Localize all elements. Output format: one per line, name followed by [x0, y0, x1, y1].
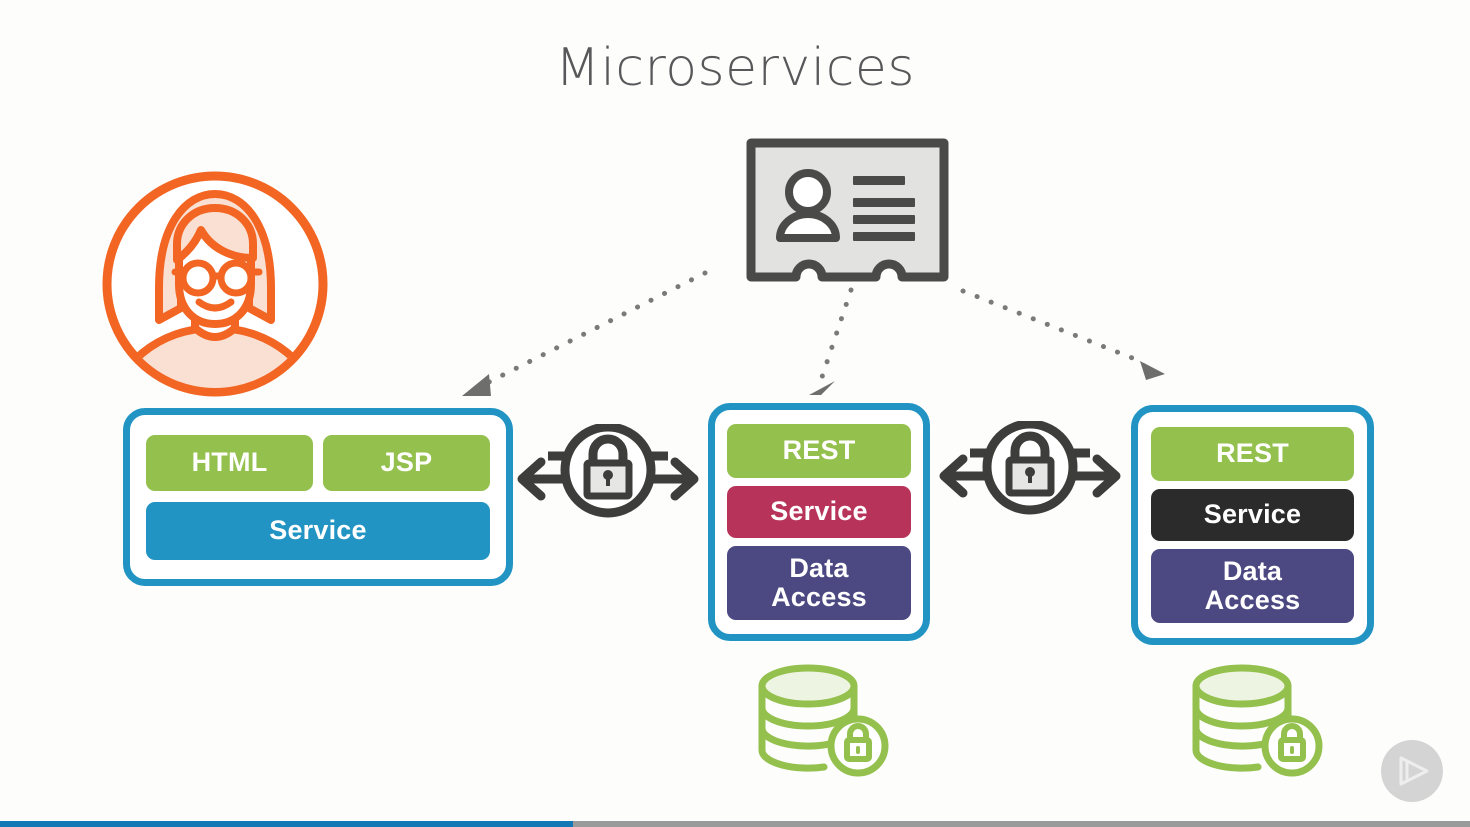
data-access-right-line2: Access	[1205, 585, 1301, 615]
identity-arrowhead-right	[1140, 361, 1165, 380]
slide-canvas: Microservices	[0, 0, 1470, 827]
middle-microservice-box[interactable]: REST Service Data Access	[708, 403, 930, 641]
identity-arrowhead-web	[462, 374, 491, 396]
right-microservice-box[interactable]: REST Service Data Access	[1131, 405, 1374, 645]
block-service-right[interactable]: Service	[1151, 489, 1354, 541]
identity-arrow-to-right-service-line	[963, 291, 1145, 363]
block-service-middle[interactable]: Service	[727, 486, 911, 538]
data-access-middle-line1: Data	[789, 553, 848, 583]
block-rest-middle[interactable]: REST	[727, 424, 911, 478]
play-logo-watermark-icon	[1381, 740, 1443, 802]
block-html[interactable]: HTML	[146, 435, 313, 491]
block-jsp[interactable]: JSP	[323, 435, 490, 491]
identity-arrow-to-web-app-line	[487, 273, 705, 383]
data-access-right-line1: Data	[1223, 556, 1282, 586]
video-progress-fill	[0, 821, 573, 827]
id-card-icon	[746, 138, 949, 282]
block-data-access-middle[interactable]: Data Access	[727, 546, 911, 620]
web-application-service-box[interactable]: HTML JSP Service	[123, 408, 513, 586]
video-progress-track[interactable]	[0, 821, 1470, 827]
secure-database-icon-middle	[754, 658, 894, 778]
secure-link-web-to-middle	[508, 424, 708, 520]
block-service-web[interactable]: Service	[146, 502, 490, 560]
user-avatar-icon	[99, 168, 331, 400]
secure-database-icon-right	[1188, 658, 1328, 778]
identity-arrow-to-middle-service-line	[822, 290, 851, 377]
page-title: Microservices	[0, 38, 1470, 98]
secure-link-middle-to-right	[930, 421, 1130, 517]
identity-arrowhead-middle	[809, 381, 835, 395]
block-rest-right[interactable]: REST	[1151, 427, 1354, 481]
block-data-access-right[interactable]: Data Access	[1151, 549, 1354, 623]
data-access-middle-line2: Access	[771, 582, 867, 612]
presentation-layer-row: HTML JSP	[146, 435, 490, 491]
